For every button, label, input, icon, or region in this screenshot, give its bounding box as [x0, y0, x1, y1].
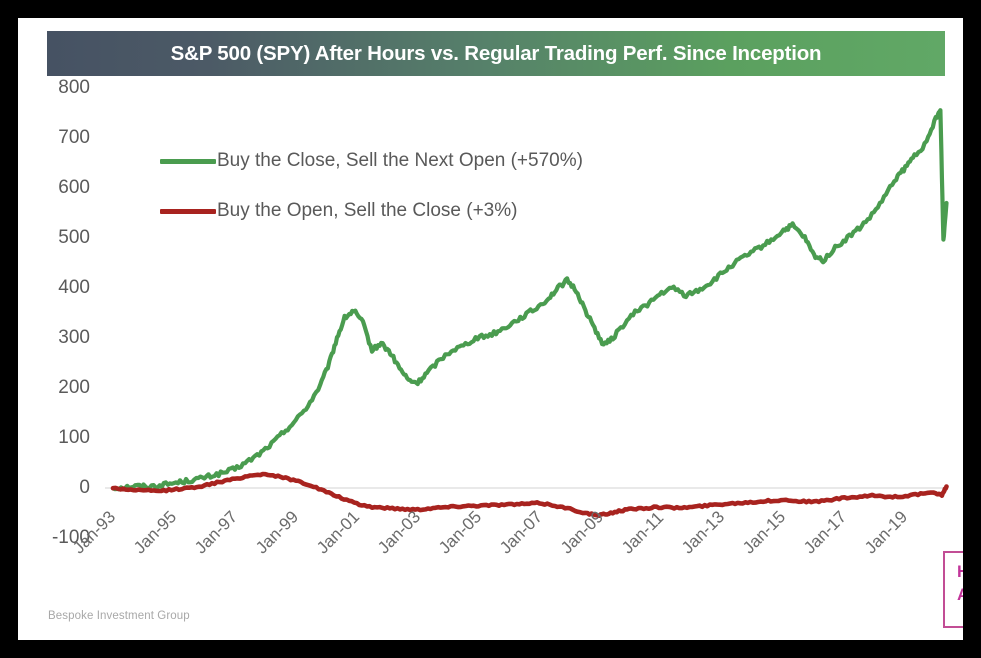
legend-swatch-regular-hours — [160, 209, 216, 214]
chart-card: S&P 500 (SPY) After Hours vs. Regular Tr… — [18, 18, 963, 640]
legend-item-regular-hours[interactable]: Buy the Open, Sell the Close (+3%) — [160, 186, 630, 236]
chart-legend: Buy the Close, Sell the Next Open (+570%… — [160, 136, 630, 236]
overlay-line-2: ABO — [957, 584, 963, 607]
page-title: S&P 500 (SPY) After Hours vs. Regular Tr… — [171, 42, 822, 66]
screenshot-root: S&P 500 (SPY) After Hours vs. Regular Tr… — [0, 0, 981, 658]
overlay-callout-box[interactable]: HIE ABO — [943, 551, 963, 628]
legend-swatch-after-hours — [160, 159, 216, 164]
source-attribution: Bespoke Investment Group — [48, 610, 190, 622]
legend-item-after-hours[interactable]: Buy the Close, Sell the Next Open (+570%… — [160, 136, 630, 186]
overlay-line-1: HIE — [957, 561, 963, 584]
chart-title-banner: S&P 500 (SPY) After Hours vs. Regular Tr… — [47, 31, 945, 76]
legend-label-after-hours: Buy the Close, Sell the Next Open (+570%… — [217, 150, 583, 172]
legend-label-regular-hours: Buy the Open, Sell the Close (+3%) — [217, 200, 517, 222]
